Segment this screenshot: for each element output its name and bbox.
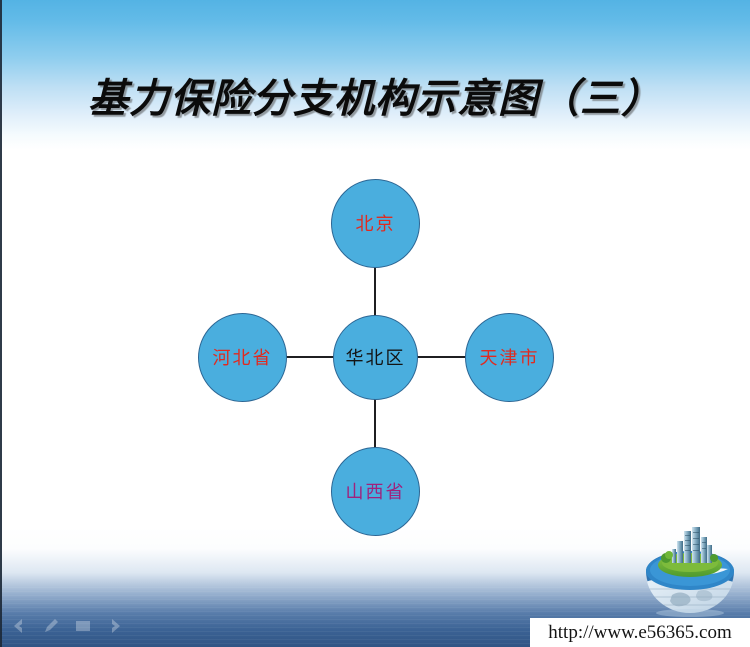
node-north-china-region-label: 华北区 (346, 349, 406, 367)
slide-canvas: 基力保险分支机构示意图（三） 北京 河北省 华北区 天津市 山西省 (0, 0, 750, 647)
pencil-icon[interactable] (42, 617, 60, 635)
page-icon[interactable] (74, 617, 92, 635)
node-beijing[interactable]: 北京 (331, 179, 420, 268)
node-beijing-label: 北京 (356, 215, 396, 233)
node-shanxi[interactable]: 山西省 (331, 447, 420, 536)
connector-center-to-top (374, 262, 376, 320)
connector-center-to-bottom (374, 395, 376, 453)
node-shanxi-label: 山西省 (346, 483, 406, 501)
node-hebei-label: 河北省 (213, 349, 273, 367)
node-tianjin-label: 天津市 (480, 349, 540, 367)
node-tianjin[interactable]: 天津市 (465, 313, 554, 402)
connector-center-to-right (412, 356, 470, 358)
back-arrow-icon[interactable] (10, 617, 28, 635)
watermark-url-box: http://www.e56365.com (530, 618, 750, 647)
watermark-url-text: http://www.e56365.com (548, 622, 731, 644)
connector-center-to-left (281, 356, 339, 358)
forward-arrow-icon[interactable] (106, 617, 124, 635)
globe-city-logo (638, 525, 742, 617)
node-hebei[interactable]: 河北省 (198, 313, 287, 402)
slide-navigation-bar (10, 617, 124, 635)
node-north-china-region[interactable]: 华北区 (333, 315, 418, 400)
